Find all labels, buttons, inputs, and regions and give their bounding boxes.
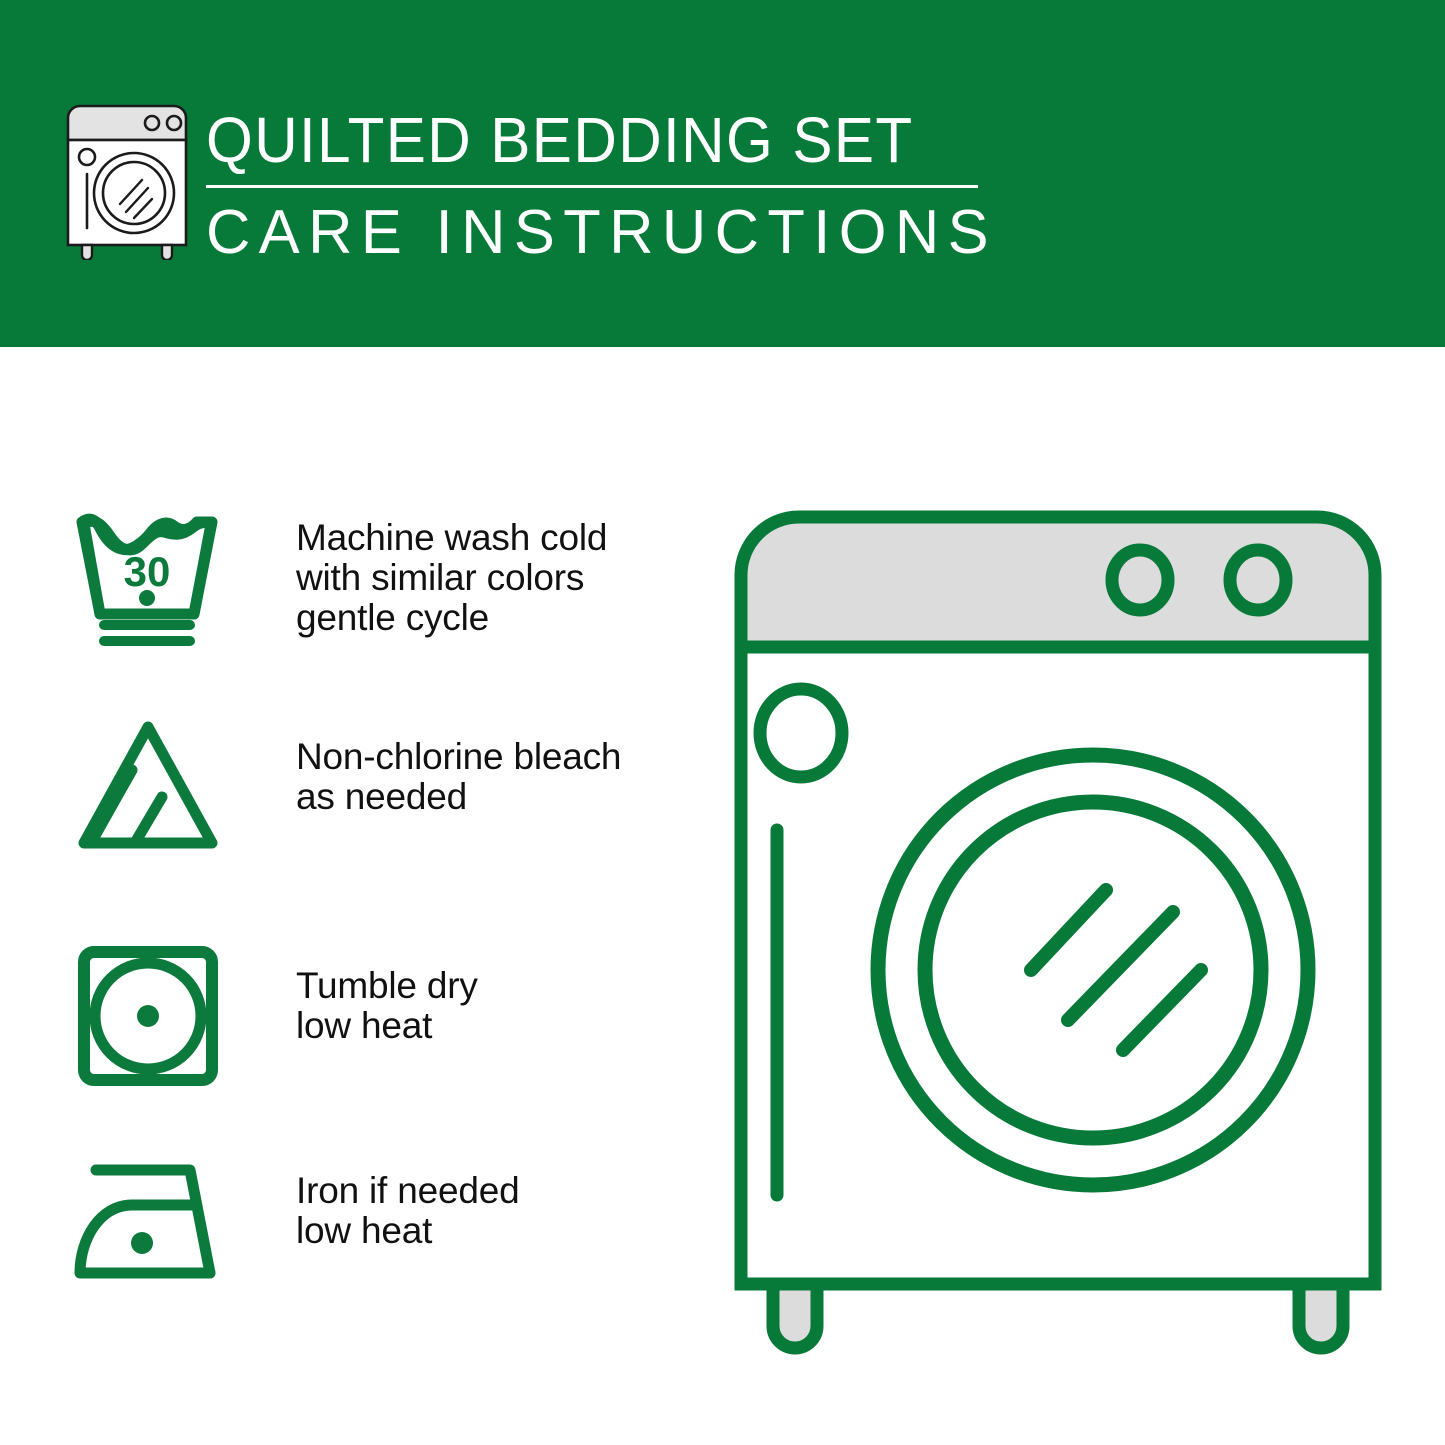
care-row-label: Machine wash cold with similar colors ge… [230, 502, 690, 638]
care-row: Non-chlorine bleach as needed [70, 715, 690, 865]
header-title-block: QUILTED BEDDING SET CARE INSTRUCTIONS [206, 103, 996, 269]
tumble-dry-low-heat-icon [70, 942, 230, 1092]
care-row: Tumble dry low heat [70, 942, 690, 1092]
care-row-label: Non-chlorine bleach as needed [230, 715, 690, 817]
care-row-label: Iron if needed low heat [230, 1147, 690, 1251]
page-subtitle: CARE INSTRUCTIONS [206, 197, 988, 269]
care-row-label: Tumble dry low heat [230, 942, 690, 1046]
washing-machine-icon [62, 100, 192, 260]
wash-tub-30-gentle-icon: 30 [70, 502, 230, 652]
iron-low-heat-icon [70, 1147, 230, 1297]
page-title: QUILTED BEDDING SET [206, 103, 949, 177]
care-row: Iron if needed low heat [70, 1147, 690, 1297]
care-instructions-page: QUILTED BEDDING SET CARE INSTRUCTIONS [0, 0, 1445, 1445]
header-banner: QUILTED BEDDING SET CARE INSTRUCTIONS [0, 0, 1445, 347]
care-row: 30 Machine wash cold with similar colors… [70, 502, 690, 652]
large-washing-machine-illustration [713, 470, 1403, 1370]
wash-temperature-value: 30 [124, 548, 171, 595]
care-instruction-list: 30 Machine wash cold with similar colors… [0, 347, 700, 1445]
title-divider [206, 185, 978, 188]
non-chlorine-bleach-triangle-icon [70, 715, 230, 865]
